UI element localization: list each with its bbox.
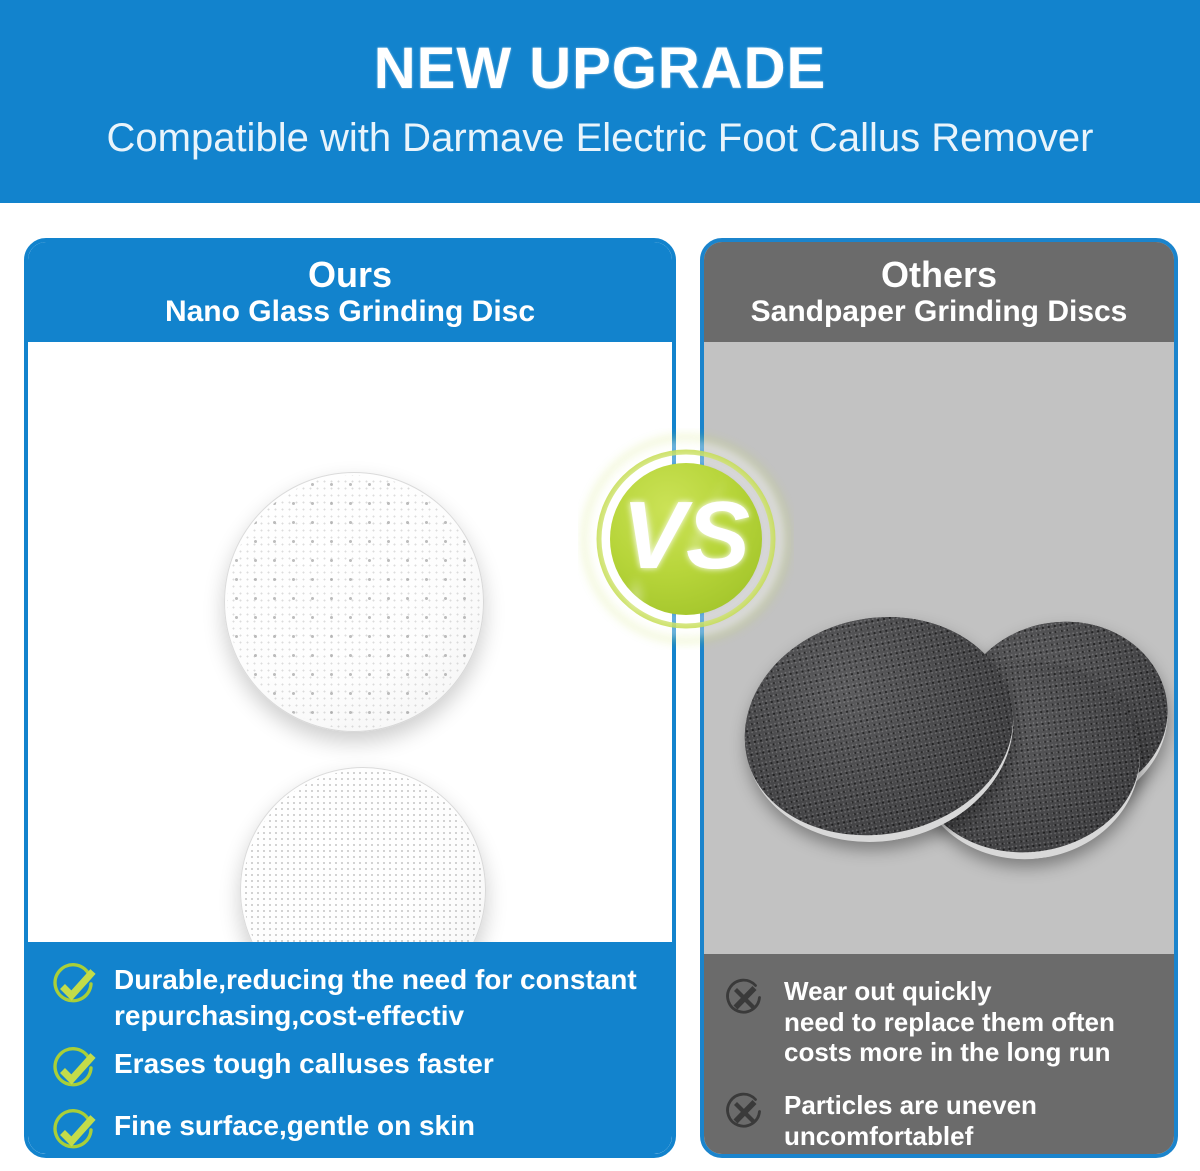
- list-item-label: Erases tough calluses faster: [114, 1044, 494, 1082]
- list-item: Particles are uneven uncomfortablef: [722, 1090, 1158, 1151]
- list-item-label: Durable,reducing the need for constant r…: [114, 960, 652, 1034]
- list-item: Durable,reducing the need for constant r…: [48, 960, 652, 1034]
- panel-subtitle-ours: Nano Glass Grinding Disc: [165, 295, 535, 328]
- panel-header-ours: Ours Nano Glass Grinding Disc: [28, 242, 672, 342]
- vs-badge: VS: [578, 428, 794, 650]
- header-banner: NEW UPGRADE Compatible with Darmave Elec…: [0, 0, 1200, 203]
- panel-footer-others: Wear out quickly need to replace them of…: [704, 954, 1174, 1154]
- check-circle-icon: [48, 960, 100, 1012]
- panel-footer-ours: Durable,reducing the need for constant r…: [28, 942, 672, 1154]
- panel-title-others: Others: [881, 256, 997, 294]
- check-circle-icon: [48, 1044, 100, 1096]
- nano-glass-disc-ring-texture: [224, 472, 484, 732]
- panel-header-others: Others Sandpaper Grinding Discs: [704, 242, 1174, 342]
- list-item-label: Fine surface,gentle on skin: [114, 1106, 475, 1144]
- list-item-line: uncomfortablef: [784, 1121, 973, 1151]
- list-item: Fine surface,gentle on skin: [48, 1106, 652, 1158]
- page-subtitle: Compatible with Darmave Electric Foot Ca…: [0, 118, 1200, 158]
- panel-title-ours: Ours: [308, 256, 392, 294]
- check-circle-icon: [48, 1106, 100, 1158]
- list-item-line: Particles are uneven: [784, 1090, 1037, 1120]
- list-item-label: Wear out quickly need to replace them of…: [784, 976, 1115, 1068]
- comparison-panel-others: Others Sandpaper Grinding Discs Wear out…: [700, 238, 1178, 1158]
- list-item-line: costs more in the long run: [784, 1037, 1110, 1067]
- list-item: Erases tough calluses faster: [48, 1044, 652, 1096]
- list-item-line: need to replace them often: [784, 1007, 1115, 1037]
- list-item-label: Particles are uneven uncomfortablef: [784, 1090, 1037, 1151]
- page-title: NEW UPGRADE: [0, 40, 1200, 98]
- vs-badge-label: VS: [622, 482, 750, 589]
- x-circle-icon: [722, 976, 768, 1022]
- list-item: Wear out quickly need to replace them of…: [722, 976, 1158, 1068]
- x-circle-icon: [722, 1090, 768, 1136]
- panel-subtitle-others: Sandpaper Grinding Discs: [751, 295, 1128, 328]
- list-item-line: Wear out quickly: [784, 976, 992, 1006]
- comparison-panel-ours: Ours Nano Glass Grinding Disc Durable,re…: [24, 238, 676, 1158]
